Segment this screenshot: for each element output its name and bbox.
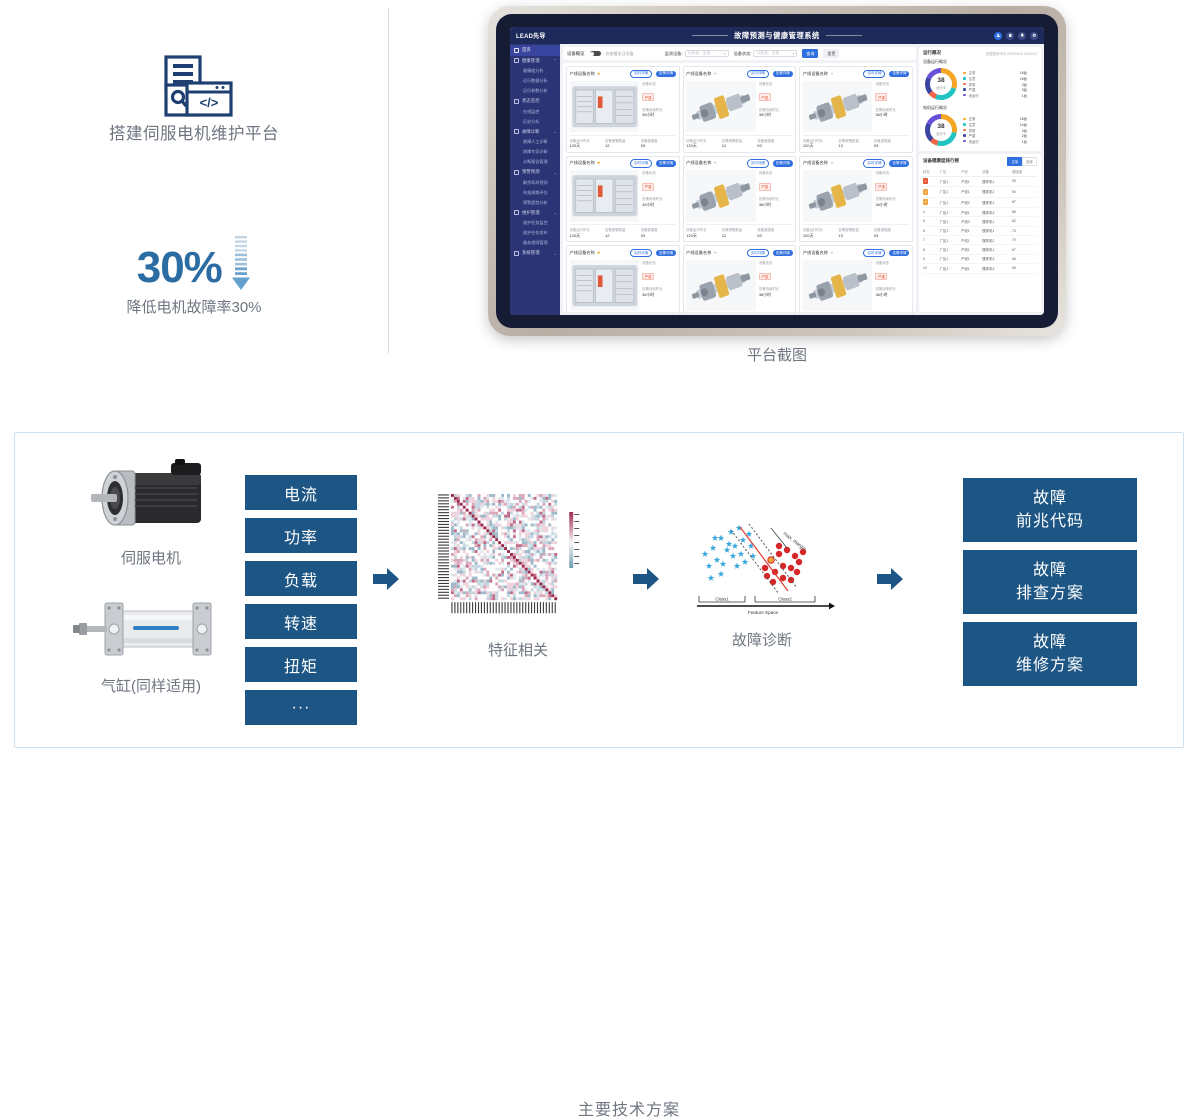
motor-donut-legend: 正常 15台 注意 14台 异常 3台 严重 2台 未运行 1台 (963, 116, 1037, 144)
alarm-count-stat: 告警报警数量 13 (838, 138, 874, 150)
device-card-body: 设备状态 严重 告警持续时长 36小时 (570, 170, 677, 221)
app-title-wrap: 故障预测与健康管理系统 (510, 31, 1044, 41)
legend-label: 异常 (969, 128, 976, 133)
header-icon-group (994, 32, 1038, 40)
pneumatic-cylinder-caption: 气缸(同样适用) (71, 675, 231, 696)
device-card[interactable]: 产线设备名称 ★ 实时详情 告警详情 设备状态 严重 告警持 (683, 156, 797, 243)
device-card-footer: 设备运行时长 120天 告警报警数量 12 设备健康度 93 (570, 224, 677, 239)
realtime-detail-button[interactable]: 实时详情 (747, 159, 769, 168)
status-label: 设备状态 (875, 260, 909, 265)
realtime-detail-button[interactable]: 实时详情 (863, 70, 885, 79)
sidebar-item-label: 故障诊断 (522, 129, 540, 135)
device-card-body: 设备状态 严重 告警持续时长 36小时 (570, 260, 677, 311)
output-line-1: 故障 (1033, 559, 1067, 582)
favorite-star-icon[interactable]: ★ (597, 160, 601, 166)
cell-line: 产线1 (961, 264, 982, 273)
cell-line: 产线2 (961, 197, 982, 207)
chevron-down-icon: ▾ (793, 52, 795, 56)
favorite-star-icon[interactable]: ★ (830, 160, 834, 166)
device-donut-row: 38 运行中 正常 16台 注意 15台 异常 3台 严重 3台 未运行 1台 (923, 66, 1037, 102)
output-line-2: 排查方案 (1016, 582, 1084, 605)
servo-motor-caption: 伺服电机 (71, 547, 231, 568)
health-value: 93 (757, 233, 793, 238)
health-value: 93 (641, 143, 677, 148)
device-status-block: 设备状态 严重 告警持续时长 36小时 (875, 260, 909, 311)
table-row[interactable]: 2 厂区1 产线1 搅拌机2 90 (923, 187, 1037, 197)
device-card-name: 产线设备名称 (686, 160, 711, 166)
svg-text:Class1: Class1 (715, 597, 729, 602)
product-servo-motor: 伺服电机 (71, 457, 231, 568)
device-photo (570, 81, 640, 132)
sidebar-subitem[interactable]: 运行数据分析 (510, 76, 560, 86)
table-column-header: 产线 (961, 168, 982, 177)
overview-panel-header: 运行概况 数据更新时间 2020/05/20 08:30:00 (923, 50, 1037, 56)
status-label: 设备状态 (642, 260, 676, 265)
cell-plant: 厂区1 (940, 217, 961, 226)
rank-title: 设备健康度排行榜 (923, 158, 959, 164)
device-photo (570, 170, 640, 221)
output-line-2: 前兆代码 (1016, 510, 1084, 533)
alarm-duration-label: 告警持续时长 (642, 286, 676, 291)
signal-tag-list: 电流功率负载转速扭矩··· (245, 475, 357, 725)
health-value: 93 (874, 233, 910, 238)
favorite-star-icon[interactable]: ★ (597, 250, 601, 256)
alarm-count-stat: 告警报警数量 12 (722, 227, 758, 239)
status-label: 设备状态 (642, 81, 676, 86)
sidebar-item-system[interactable]: 系统管理 ⌄ (510, 248, 560, 259)
cell-health: 90 (1012, 187, 1037, 197)
device-card-name: 产线设备名称 (570, 71, 595, 77)
sidebar-subitem[interactable]: 在线监控 (510, 107, 560, 117)
device-card-header: 产线设备名称 ★ 实时详情 告警详情 (570, 249, 677, 258)
donut-center-value: 38 (937, 124, 944, 131)
alarm-count-stat: 告警报警数量 13 (838, 227, 874, 239)
alarm-count-label: 告警报警数量 (838, 138, 874, 143)
device-card-header: 产线设备名称 ★ 实时详情 告警详情 (570, 159, 677, 168)
device-donut-chart: 38 运行中 (923, 66, 959, 102)
signal-tag: 电流 (245, 475, 357, 510)
realtime-detail-button[interactable]: 实时详情 (630, 159, 652, 168)
svg-text:Class2: Class2 (778, 597, 792, 602)
realtime-detail-button[interactable]: 实时详情 (630, 249, 652, 258)
sidebar-item-home[interactable]: 首页 (510, 45, 560, 56)
sidebar-nav[interactable]: 首页 健康管理 ⌃ 健康度分析 运行数据分析 运行参数分析 状态监控 在线监控 (510, 44, 560, 315)
sidebar-subitem[interactable]: 备务规则管理 (510, 238, 560, 248)
sidebar-subitem[interactable]: 维护任务监控 (510, 218, 560, 228)
pneumatic-cylinder-photo (71, 585, 231, 671)
device-card[interactable]: 产线设备名称 ★ 实时详情 告警详情 设备状态 严重 (566, 245, 680, 315)
cell-rank: 1 (923, 176, 940, 186)
user-icon[interactable] (994, 32, 1002, 40)
favorite-star-icon[interactable]: ★ (713, 71, 717, 77)
fault-diagnosis-caption: 故障诊断 (687, 629, 837, 650)
runtime-value: 120天 (686, 143, 722, 149)
status-label: 设备状态 (875, 81, 909, 86)
alarm-duration-value: 36小时 (642, 202, 676, 208)
feature-correlation-stage: 特征相关 (433, 488, 603, 660)
runtime-stat: 设备运行时长 120天 (803, 138, 839, 150)
device-photo (570, 260, 640, 311)
cell-rank: 4 (923, 207, 940, 216)
legend-label: 严重 (969, 133, 976, 138)
chevron-up-icon: ⌃ (554, 58, 557, 63)
sidebar-item-maintenance[interactable]: 维护管理 ⌄ (510, 208, 560, 219)
device-card-footer: 设备运行时长 120天 告警报警数量 12 设备健康度 93 (570, 314, 677, 315)
alarm-count-value: 12 (722, 143, 758, 148)
legend-swatch (963, 140, 966, 143)
table-column-header: 设备 (982, 168, 1012, 177)
alarm-detail-button[interactable]: 告警详情 (773, 250, 793, 257)
alarm-count-label: 告警报警数量 (722, 138, 758, 143)
runtime-label: 设备运行时长 (803, 138, 839, 143)
cell-plant: 厂区1 (940, 187, 961, 197)
sidebar-item-health[interactable]: 健康管理 ⌃ (510, 56, 560, 67)
table-row[interactable]: 7 厂区1 产线1 搅拌机2 70 (923, 236, 1037, 245)
sidebar-subitem[interactable]: 历史分析 (510, 117, 560, 127)
alarm-detail-button[interactable]: 告警详情 (889, 250, 909, 257)
monitor-icon (514, 99, 519, 104)
cell-device: 搅拌机1 (982, 197, 1012, 207)
cell-rank: 3 (923, 197, 940, 207)
health-label: 设备健康度 (641, 227, 677, 232)
runtime-stat: 设备运行时长 120天 (686, 227, 722, 239)
alarm-duration-value: 36小时 (642, 292, 676, 298)
home-icon (514, 48, 519, 53)
bell-icon[interactable] (1018, 32, 1026, 40)
sidebar-item-prediction[interactable]: 预警预测 ⌄ (510, 167, 560, 178)
health-stat: 设备健康度 93 (874, 138, 910, 150)
reset-button[interactable]: 重置 (823, 49, 839, 58)
cell-device: 搅拌机3 (982, 254, 1012, 263)
svg-text:Feature Space: Feature Space (748, 610, 779, 615)
device-card-footer: 设备运行时长 120天 告警报警数量 12 设备健康度 93 (686, 314, 793, 315)
cell-rank: 6 (923, 226, 940, 235)
stat-block: 30% (0, 240, 388, 296)
legend-swatch (963, 83, 966, 86)
status-select-value: 可多选、全选 (756, 51, 779, 56)
signal-tag: 扭矩 (245, 647, 357, 682)
legend-value: 3台 (1022, 128, 1037, 133)
filter-label: 设备状态: (734, 51, 752, 57)
favorite-star-icon[interactable]: ★ (597, 71, 601, 77)
chevron-down-icon: ⌄ (554, 251, 557, 256)
device-status-block: 设备状态 严重 告警持续时长 36小时 (642, 170, 676, 221)
cell-plant: 厂区1 (940, 226, 961, 235)
cell-line: 产线1 (961, 187, 982, 197)
table-row[interactable]: 1 厂区1 产线1 搅拌机1 93 (923, 176, 1037, 186)
favorite-star-icon[interactable]: ★ (713, 160, 717, 166)
device-card-header: 产线设备名称 ★ 实时详情 告警详情 (686, 159, 793, 168)
runtime-stat: 设备运行时长 120天 (686, 138, 722, 150)
alarm-duration-label: 告警持续时长 (759, 107, 793, 112)
alarm-duration-label: 告警持续时长 (875, 107, 909, 112)
device-card-name: 产线设备名称 (803, 160, 828, 166)
donut-center-label: 运行中 (936, 131, 946, 136)
device-status-block: 设备状态 严重 告警持续时长 36小时 (875, 81, 909, 132)
health-label: 设备健康度 (757, 138, 793, 143)
device-card-footer: 设备运行时长 120天 告警报警数量 12 设备健康度 93 (570, 135, 677, 150)
arrow-right-icon-2 (633, 568, 659, 590)
device-photo (803, 170, 873, 221)
device-card-header: 产线设备名称 ★ 实时详情 告警详情 (686, 249, 793, 258)
alarm-detail-button[interactable]: 告警详情 (773, 71, 793, 78)
device-card-header: 产线设备名称 ★ 实时详情 告警详情 (803, 249, 910, 258)
cell-plant: 厂区1 (940, 207, 961, 216)
legend-label: 注意 (969, 122, 976, 127)
alarm-count-value: 12 (605, 233, 641, 238)
runtime-label: 设备运行时长 (803, 227, 839, 232)
alarm-detail-button[interactable]: 告警详情 (889, 160, 909, 167)
overview-label: 设备概览 (567, 51, 585, 57)
alarm-detail-button[interactable]: 告警详情 (889, 71, 909, 78)
device-card-name: 产线设备名称 (686, 250, 711, 256)
chevron-down-icon: ▾ (724, 52, 726, 56)
device-card-header: 产线设备名称 ★ 实时详情 告警详情 (570, 70, 677, 79)
signal-tag: 转速 (245, 604, 357, 639)
status-label: 设备状态 (759, 81, 793, 86)
platform-highlight-panel: </> 搭建伺服电机维护平台 30% 降低电机故障率30% (0, 0, 388, 370)
table-row[interactable]: 9 厂区1 产线1 搅拌机3 66 (923, 254, 1037, 263)
favorites-toggle[interactable] (590, 51, 601, 57)
filter-toolbar: 设备概览 仅查看关注设备 监测设备: 可多选、全选 ▾ (563, 47, 916, 60)
servo-motor-photo (71, 457, 231, 543)
legend-label: 注意 (969, 76, 976, 81)
cell-line: 产线1 (961, 176, 982, 186)
sidebar-subitem[interactable]: 失效周期评估 (510, 188, 560, 198)
content-side-column: 运行概况 数据更新时间 2020/05/20 08:30:00 设备运行概况 (919, 47, 1041, 312)
tablet-screen-frame: LEAD先导 故障预测与健康管理系统 (496, 14, 1058, 328)
table-row[interactable]: 3 厂区1 产线2 搅拌机1 87 (923, 197, 1037, 207)
alarm-count-stat: 告警报警数量 12 (605, 138, 641, 150)
favorite-star-icon[interactable]: ★ (830, 250, 834, 256)
health-value: 93 (757, 143, 793, 148)
device-card-header: 产线设备名称 ★ 实时详情 告警详情 (686, 70, 793, 79)
device-card-body: 设备状态 严重 告警持续时长 36小时 (686, 170, 793, 221)
status-badge: 严重 (875, 93, 887, 101)
overview-panel: 运行概况 数据更新时间 2020/05/20 08:30:00 设备运行概况 (919, 47, 1041, 151)
legend-value: 3台 (1022, 87, 1037, 92)
runtime-value: 120天 (686, 233, 722, 239)
health-value: 93 (641, 233, 677, 238)
realtime-detail-button[interactable]: 实时详情 (747, 70, 769, 79)
cell-rank: 5 (923, 217, 940, 226)
settings-icon (514, 251, 519, 256)
donut-title-motor: 电机运行概况 (923, 105, 1037, 111)
sort-desc-button[interactable]: 倒序 (1022, 157, 1037, 166)
device-card[interactable]: 产线设备名称 ★ 实时详情 告警详情 设备状态 严重 (566, 66, 680, 153)
device-card-name: 产线设备名称 (570, 160, 595, 166)
gear-icon[interactable] (1030, 32, 1038, 40)
tablet-device-mockup: LEAD先导 故障预测与健康管理系统 (488, 6, 1066, 336)
alarm-duration-label: 告警持续时长 (875, 196, 909, 201)
status-select[interactable]: 可多选、全选 ▾ (753, 50, 797, 58)
realtime-detail-button[interactable]: 实时详情 (863, 159, 885, 168)
health-value: 93 (874, 143, 910, 148)
device-card-name: 产线设备名称 (570, 250, 595, 256)
alarm-duration-value: 36小时 (759, 202, 793, 208)
legend-value: 15台 (1020, 116, 1037, 121)
alarm-duration-value: 36小时 (875, 202, 909, 208)
medal-icon: 2 (923, 189, 928, 195)
sidebar-item-diagnosis[interactable]: 故障诊断 ⌄ (510, 127, 560, 138)
alarm-detail-button[interactable]: 告警详情 (656, 71, 676, 78)
device-card-name: 产线设备名称 (686, 71, 711, 77)
cell-device: 搅拌机1 (982, 176, 1012, 186)
device-card[interactable]: 产线设备名称 ★ 实时详情 告警详情 设备状态 严重 告警持 (683, 245, 797, 315)
alarm-detail-button[interactable]: 告警详情 (773, 160, 793, 167)
realtime-detail-button[interactable]: 实时详情 (863, 249, 885, 258)
cell-device: 搅拌机3 (982, 207, 1012, 216)
sidebar-subitem[interactable]: 维护任务发布 (510, 228, 560, 238)
cell-device: 搅拌机1 (982, 217, 1012, 226)
runtime-value: 120天 (570, 233, 606, 239)
alarm-count-value: 13 (838, 143, 874, 148)
down-arrow-icon (231, 236, 251, 292)
cell-line: 产线1 (961, 245, 982, 254)
alarm-count-stat: 告警报警数量 12 (722, 138, 758, 150)
alarm-duration-label: 告警持续时长 (759, 286, 793, 291)
alarm-count-label: 告警报警数量 (838, 227, 874, 232)
device-donut-legend: 正常 16台 注意 15台 异常 3台 严重 3台 未运行 1台 (963, 70, 1037, 98)
device-card-header: 产线设备名称 ★ 实时详情 告警详情 (803, 159, 910, 168)
table-row[interactable]: 6 厂区1 产线1 搅拌机1 73 (923, 226, 1037, 235)
table-row[interactable]: 5 厂区1 产线3 搅拌机1 82 (923, 217, 1037, 226)
alarm-detail-button[interactable]: 告警详情 (656, 250, 676, 257)
alarm-detail-button[interactable]: 告警详情 (656, 160, 676, 167)
filter-status: 设备状态: 可多选、全选 ▾ (734, 50, 798, 58)
alarm-duration-value: 36小时 (759, 292, 793, 298)
sort-segmented-control[interactable]: 正序 倒序 (1007, 157, 1037, 166)
realtime-detail-button[interactable]: 实时详情 (747, 249, 769, 258)
alarm-duration-value: 36小时 (642, 112, 676, 118)
chevron-down-icon: ⌄ (554, 210, 557, 215)
sort-asc-button[interactable]: 正序 (1007, 157, 1022, 166)
runtime-stat: 设备运行时长 120天 (570, 227, 606, 239)
device-card[interactable]: 产线设备名称 ★ 实时详情 告警详情 设备状态 严重 告警持 (799, 66, 913, 153)
favorite-star-icon[interactable]: ★ (830, 71, 834, 77)
app-screen: LEAD先导 故障预测与健康管理系统 (510, 27, 1044, 315)
sidebar-subitem[interactable]: 运行参数分析 (510, 86, 560, 96)
alarm-count-label: 告警报警数量 (605, 227, 641, 232)
status-badge: 严重 (642, 183, 654, 191)
cell-plant: 厂区1 (940, 264, 961, 273)
device-card[interactable]: 产线设备名称 ★ 实时详情 告警详情 设备状态 严重 告警持 (683, 66, 797, 153)
runtime-stat: 设备运行时长 120天 (570, 138, 606, 150)
alarm-count-value: 13 (838, 233, 874, 238)
technical-solution-panel: 伺服电机 气缸(同样适用) 电流功率负载转 (14, 432, 1184, 748)
sidebar-item-monitor[interactable]: 状态监控 (510, 96, 560, 107)
favorite-star-icon[interactable]: ★ (713, 250, 717, 256)
device-card[interactable]: 产线设备名称 ★ 实时详情 告警详情 设备状态 严重 告警持 (799, 156, 913, 243)
search-button[interactable]: 查询 (802, 49, 818, 58)
realtime-detail-button[interactable]: 实时详情 (630, 70, 652, 79)
product-pneumatic-cylinder: 气缸(同样适用) (71, 585, 231, 696)
cell-rank: 10 (923, 264, 940, 273)
table-column-header: 排名 (923, 168, 940, 177)
legend-label: 正常 (969, 116, 976, 121)
device-card-footer: 设备运行时长 120天 告警报警数量 13 设备健康度 93 (803, 314, 910, 315)
legend-swatch (963, 88, 966, 91)
chevron-down-icon: ⌄ (554, 170, 557, 175)
legend-swatch (963, 134, 966, 137)
table-column-header: 健康度 (1012, 168, 1037, 177)
cell-line: 产线1 (961, 254, 982, 263)
legend-value: 2台 (1022, 133, 1037, 138)
sidebar-item-label: 首页 (522, 47, 531, 53)
runtime-label: 设备运行时长 (686, 227, 722, 232)
rank-panel-header: 设备健康度排行榜 正序 倒序 (923, 157, 1037, 166)
cell-line: 产线1 (961, 207, 982, 216)
legend-label: 未运行 (969, 139, 979, 144)
signal-tag: ··· (245, 690, 357, 725)
cell-health: 70 (1012, 236, 1037, 245)
cell-device: 搅拌机3 (982, 264, 1012, 273)
table-row[interactable]: 8 厂区1 产线1 搅拌机1 67 (923, 245, 1037, 254)
device-select[interactable]: 可多选、全选 ▾ (685, 50, 729, 58)
legend-swatch (963, 118, 966, 121)
table-row[interactable]: 4 厂区1 产线1 搅拌机3 86 (923, 207, 1037, 216)
sidebar-subitem[interactable]: 故障人工诊断 (510, 137, 560, 147)
table-row[interactable]: 10 厂区1 产线1 搅拌机3 65 (923, 264, 1037, 273)
runtime-value: 120天 (570, 143, 606, 149)
cell-health: 66 (1012, 254, 1037, 263)
device-photo (803, 260, 873, 311)
signal-tag: 功率 (245, 518, 357, 553)
donut-center-label: 运行中 (936, 85, 946, 90)
cell-device: 搅拌机1 (982, 226, 1012, 235)
medal-icon: 3 (923, 199, 928, 205)
legend-value: 15台 (1020, 76, 1037, 81)
device-photo (686, 170, 756, 221)
health-label: 设备健康度 (874, 138, 910, 143)
cell-plant: 厂区1 (940, 254, 961, 263)
device-card[interactable]: 产线设备名称 ★ 实时详情 告警详情 设备状态 严重 告警持 (799, 245, 913, 315)
status-badge: 严重 (759, 93, 771, 101)
device-status-block: 设备状态 严重 告警持续时长 36小时 (759, 260, 793, 311)
sidebar-subitem[interactable]: 诊断报告管理 (510, 157, 560, 167)
sidebar-subitem[interactable]: 健康度分析 (510, 66, 560, 76)
app-content: 设备概览 仅查看关注设备 监测设备: 可多选、全选 ▾ (560, 44, 1044, 315)
device-card-header: 产线设备名称 ★ 实时详情 告警详情 (803, 70, 910, 79)
sidebar-subitem[interactable]: 剩余寿命预测 (510, 178, 560, 188)
runtime-value: 120天 (803, 143, 839, 149)
device-status-block: 设备状态 严重 告警持续时长 36小时 (642, 260, 676, 311)
cell-health: 93 (1012, 176, 1037, 186)
sidebar-subitem[interactable]: 故障专家诊断 (510, 147, 560, 157)
alarm-duration-label: 告警持续时长 (759, 196, 793, 201)
feature-correlation-caption: 特征相关 (433, 639, 603, 660)
device-status-block: 设备状态 严重 告警持续时长 36小时 (875, 170, 909, 221)
health-stat: 设备健康度 93 (641, 227, 677, 239)
cell-rank: 2 (923, 187, 940, 197)
update-time: 数据更新时间 2020/05/20 08:30:00 (986, 51, 1037, 56)
alarm-count-label: 告警报警数量 (722, 227, 758, 232)
alarm-duration-label: 告警持续时长 (642, 107, 676, 112)
device-card[interactable]: 产线设备名称 ★ 实时详情 告警详情 设备状态 严重 (566, 156, 680, 243)
health-stat: 设备健康度 93 (641, 138, 677, 150)
device-card-body: 设备状态 严重 告警持续时长 36小时 (803, 260, 910, 311)
home-icon[interactable] (1006, 32, 1014, 40)
device-status-block: 设备状态 严重 告警持续时长 36小时 (759, 81, 793, 132)
health-rank-table: 排名厂区产线设备健康度 1 厂区1 产线1 搅拌机1 932 厂区1 产线1 搅… (923, 168, 1037, 274)
legend-value: 14台 (1020, 122, 1037, 127)
cell-health: 73 (1012, 226, 1037, 235)
device-cards-area: 产线设备名称 ★ 实时详情 告警详情 设备状态 严重 (563, 63, 916, 312)
sidebar-subitem[interactable]: 预警趋势分析 (510, 198, 560, 208)
cell-health: 82 (1012, 217, 1037, 226)
toggle-sub-label: 仅查看关注设备 (606, 51, 634, 57)
legend-swatch (963, 94, 966, 97)
